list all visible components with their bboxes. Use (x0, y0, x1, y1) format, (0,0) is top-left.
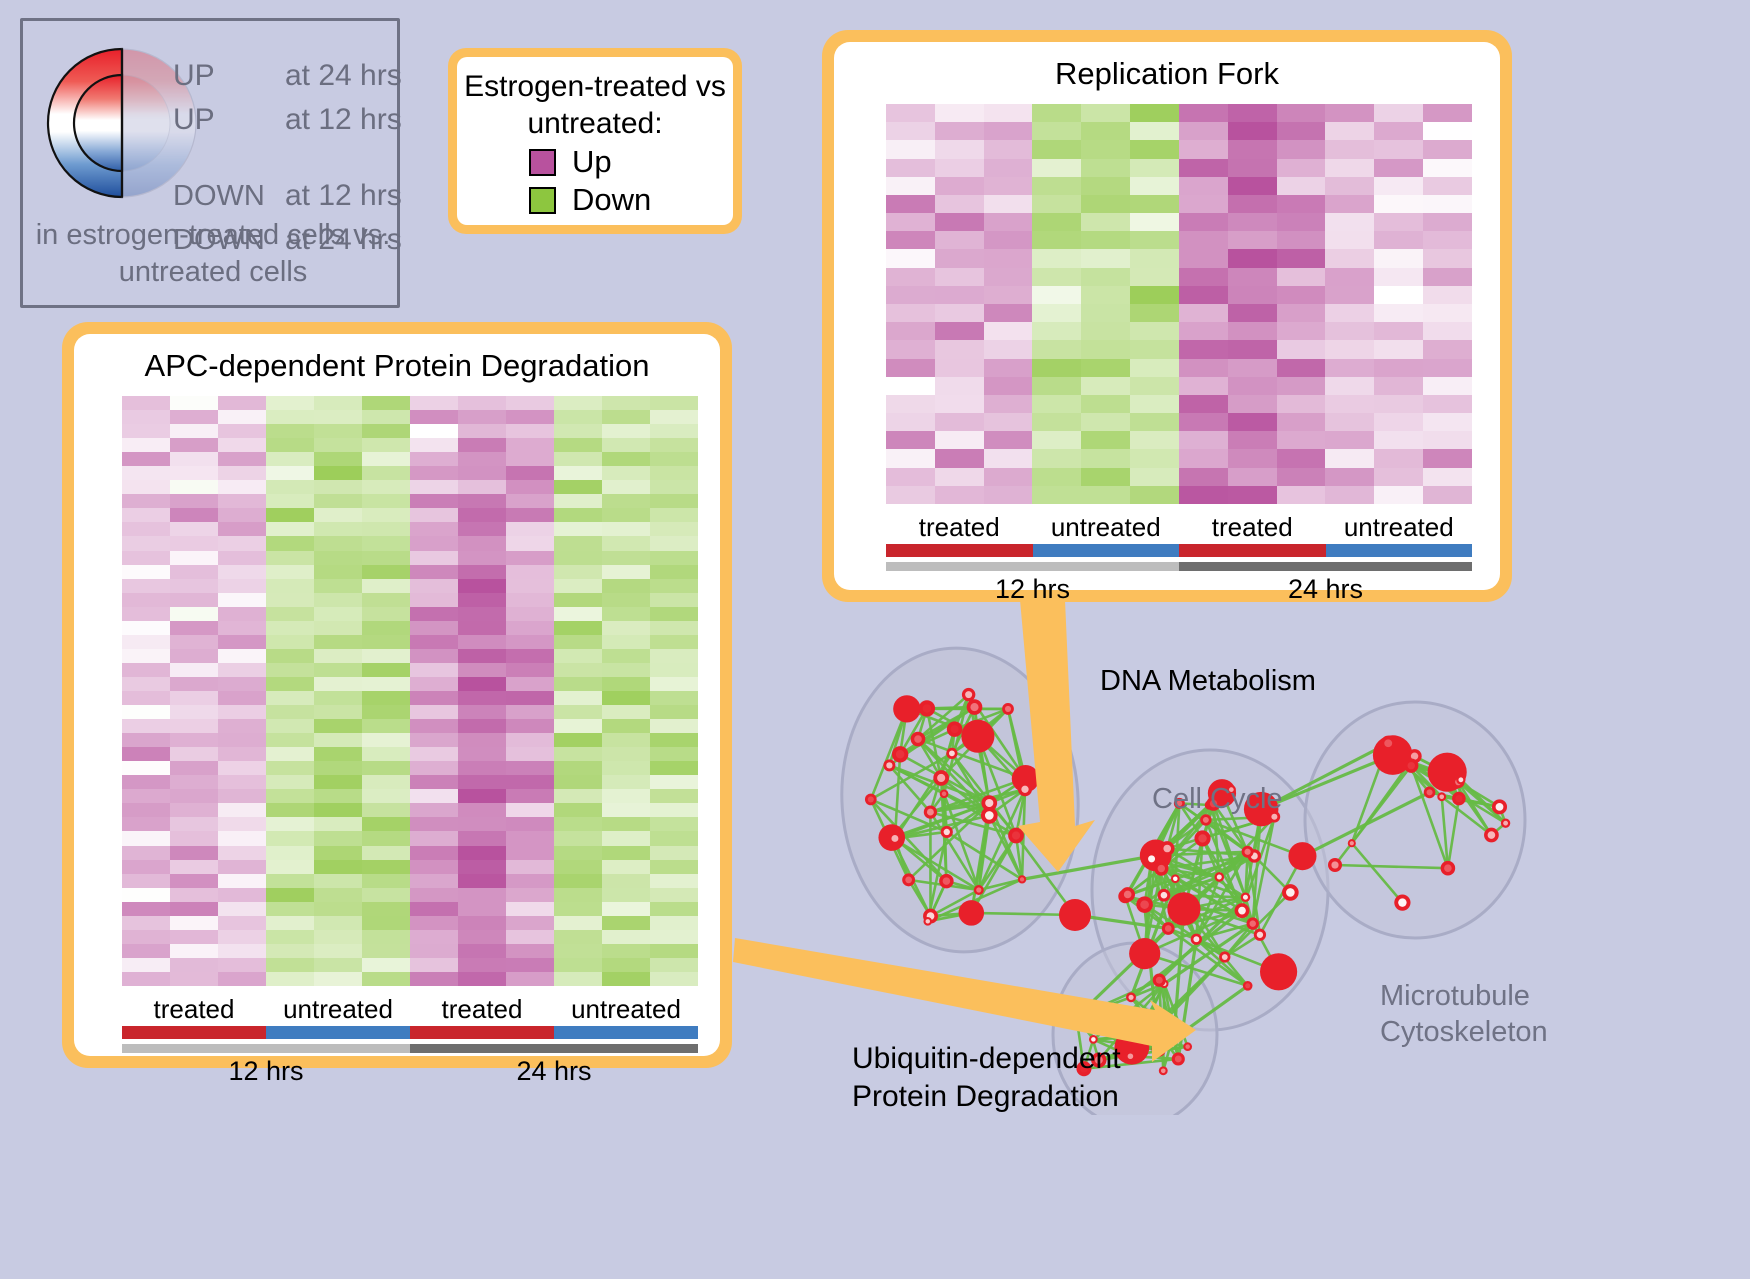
network-node[interactable] (1018, 782, 1032, 796)
heatmap-cell (984, 177, 1033, 195)
treatment-bar-apc (122, 1026, 698, 1039)
network-node[interactable] (1241, 892, 1251, 902)
network-node[interactable] (1162, 922, 1175, 935)
network-node-core (1427, 789, 1433, 795)
network-node[interactable] (902, 873, 915, 886)
heatmap-cell (650, 930, 698, 944)
heatmap-cell (554, 396, 602, 410)
heatmap-cell (1423, 268, 1472, 286)
heatmap-cell (122, 663, 170, 677)
network-node-core (1173, 876, 1178, 881)
heatmap-cell (602, 860, 650, 874)
heatmap-cell (554, 438, 602, 452)
heatmap-cell (1325, 449, 1374, 467)
heatmap-cell (266, 494, 314, 508)
network-node[interactable] (1002, 703, 1014, 715)
network-node-core (1021, 786, 1028, 793)
heatmap-cell (554, 705, 602, 719)
heatmap-cell (650, 902, 698, 916)
heatmap-cell (410, 593, 458, 607)
heatmap-cell (362, 396, 410, 410)
network-node-core (926, 919, 930, 923)
network-node-core (1020, 877, 1024, 881)
heatmap-cell (650, 958, 698, 972)
cluster-label-line1: Microtubule (1380, 978, 1548, 1014)
heatmap-cell (506, 438, 554, 452)
heatmap-cell (554, 888, 602, 902)
heatmap-cell (458, 649, 506, 663)
network-node[interactable] (1183, 1042, 1192, 1051)
heatmap-cell (410, 789, 458, 803)
network-node[interactable] (1008, 828, 1024, 844)
heatmap-cell (218, 438, 266, 452)
network-node[interactable] (1120, 887, 1135, 902)
heatmap-cell (602, 747, 650, 761)
network-node-core (1496, 803, 1504, 811)
heatmap-cell (1277, 359, 1326, 377)
heatmap-cell (650, 522, 698, 536)
heatmap-cell (1130, 159, 1179, 177)
heatmap-cell (1423, 304, 1472, 322)
network-node[interactable] (939, 874, 953, 888)
network-node[interactable] (1126, 992, 1136, 1002)
heatmap-cell (314, 691, 362, 705)
heatmap-cell (410, 579, 458, 593)
heatmap-cell (506, 663, 554, 677)
heatmap-cell (314, 551, 362, 565)
heatmap-cell (602, 972, 650, 986)
heatmap-cell (362, 817, 410, 831)
heatmap-cell (984, 122, 1033, 140)
network-node[interactable] (1260, 953, 1297, 990)
network-node[interactable] (1172, 1052, 1185, 1065)
network-node[interactable] (961, 720, 994, 753)
heatmap-cell (602, 944, 650, 958)
heatmap-cell (266, 860, 314, 874)
network-node[interactable] (1348, 839, 1356, 847)
heatmap-cell (886, 377, 935, 395)
heatmap-cell (935, 104, 984, 122)
heatmap-cell (458, 846, 506, 860)
heatmap-cell (122, 565, 170, 579)
heatmap-cell (984, 286, 1033, 304)
time-label: 24 hrs (1179, 574, 1472, 605)
network-node[interactable] (1437, 792, 1446, 801)
heatmap-cell (935, 486, 984, 504)
network-node[interactable] (1282, 884, 1299, 901)
heatmap-cell (362, 579, 410, 593)
heatmap-cell (554, 635, 602, 649)
legend-value: at 12 hrs (285, 179, 402, 213)
heatmap-cell (410, 677, 458, 691)
heatmap-cell (314, 831, 362, 845)
heatmap-cell (410, 733, 458, 747)
heatmap-cell (122, 635, 170, 649)
network-node[interactable] (1214, 872, 1224, 882)
network-node-core (1238, 907, 1246, 915)
updown-legend-title: Estrogen-treated vs untreated: (457, 69, 733, 142)
heatmap-cell (410, 831, 458, 845)
heatmap-cell (554, 508, 602, 522)
heatmap-cell (1423, 395, 1472, 413)
network-node-core (1198, 834, 1206, 842)
legend-key: UP (173, 103, 285, 137)
heatmap-cell (1423, 377, 1472, 395)
network-node[interactable] (924, 805, 937, 818)
heatmap-cell (1228, 195, 1277, 213)
bar-segment (1326, 544, 1473, 557)
network-node[interactable] (865, 794, 877, 806)
network-node[interactable] (1404, 759, 1418, 773)
heatmap-cell (1130, 377, 1179, 395)
network-node-core (1398, 898, 1406, 906)
heatmap-cell (1081, 159, 1130, 177)
heatmap-cell (410, 410, 458, 424)
heatmap-cell (266, 424, 314, 438)
network-node[interactable] (1381, 736, 1396, 751)
heatmap-cell (650, 761, 698, 775)
heatmap-cell (886, 286, 935, 304)
heatmap-cell (170, 775, 218, 789)
heatmap-cell (314, 803, 362, 817)
network-node[interactable] (981, 807, 998, 824)
heatmap-cell (1179, 322, 1228, 340)
network-node[interactable] (1154, 861, 1168, 875)
network-node[interactable] (1492, 799, 1507, 814)
heatmap-cell (602, 424, 650, 438)
heatmap-cell (1423, 195, 1472, 213)
heatmap-cell (886, 104, 935, 122)
network-node[interactable] (1452, 792, 1466, 806)
heatmap-cell (218, 536, 266, 550)
heatmap-cell (314, 958, 362, 972)
heatmap-cell (935, 304, 984, 322)
network-node[interactable] (947, 721, 963, 737)
colorwheel-legend-box: UP at 24 hrs UP at 12 hrs DOWN at 12 hrs… (20, 18, 400, 308)
network-node[interactable] (1152, 1042, 1166, 1056)
heatmap-cell (506, 635, 554, 649)
heatmap-cell (314, 747, 362, 761)
heatmap-cell (122, 677, 170, 691)
heatmap-cell (935, 286, 984, 304)
network-node[interactable] (1018, 875, 1026, 883)
heatmap-cell (170, 607, 218, 621)
heatmap-cell (1130, 122, 1179, 140)
heatmap-cell (362, 508, 410, 522)
heatmap-cell (458, 593, 506, 607)
network-node[interactable] (1235, 903, 1250, 918)
bar-segment (266, 1026, 410, 1039)
network-node-core (1193, 936, 1199, 942)
heatmap-cell (1179, 231, 1228, 249)
network-node[interactable] (892, 746, 908, 762)
heatmap-cell (362, 860, 410, 874)
heatmap-cell (1081, 486, 1130, 504)
heatmap-cell (554, 846, 602, 860)
network-node-core (927, 809, 934, 816)
heatmap-cell (650, 635, 698, 649)
heatmap-cell (1130, 304, 1179, 322)
heatmap-cell (1130, 340, 1179, 358)
heatmap-cell (506, 649, 554, 663)
heatmap-cell (410, 916, 458, 930)
network-node[interactable] (1243, 981, 1253, 991)
network-node[interactable] (1167, 892, 1200, 925)
heatmap-cell (314, 396, 362, 410)
heatmap-cell (122, 551, 170, 565)
network-node[interactable] (1247, 917, 1259, 929)
network-node-core (896, 750, 905, 759)
bar-segment (1179, 544, 1326, 557)
heatmap-cell (362, 565, 410, 579)
network-node[interactable] (1424, 787, 1436, 799)
heatmap-cell (170, 916, 218, 930)
heatmap-cell (1081, 104, 1130, 122)
heatmap-cell (1277, 268, 1326, 286)
heatmap-cell (650, 649, 698, 663)
heatmap-cell (266, 874, 314, 888)
heatmap-cell (554, 536, 602, 550)
heatmap-cell (1374, 377, 1423, 395)
heatmap-cell (410, 972, 458, 986)
heatmap-cell (362, 691, 410, 705)
network-node[interactable] (1194, 830, 1210, 846)
heatmap-cell (1032, 177, 1081, 195)
network-node[interactable] (1158, 889, 1171, 902)
heatmap-cell (935, 195, 984, 213)
network-node[interactable] (888, 832, 901, 845)
heatmap-cell (1277, 413, 1326, 431)
time-label: 12 hrs (886, 574, 1179, 605)
heatmap-cell (218, 494, 266, 508)
heatmap-cell (1277, 122, 1326, 140)
network-node[interactable] (1501, 818, 1510, 827)
network-node[interactable] (1070, 1011, 1083, 1024)
heatmap-cell (650, 607, 698, 621)
heatmap-cell (266, 817, 314, 831)
network-node[interactable] (959, 900, 985, 926)
heatmap-cell (266, 565, 314, 579)
heatmap-cell (218, 551, 266, 565)
network-node[interactable] (923, 917, 932, 926)
heatmap-cell (266, 846, 314, 860)
updown-legend-label: Down (572, 182, 651, 218)
heatmap-cell (506, 410, 554, 424)
network-node[interactable] (1125, 1051, 1136, 1062)
heatmap-cell (266, 536, 314, 550)
time-labels-replication-fork: 12 hrs 24 hrs (886, 574, 1472, 605)
heatmap-cell (1081, 268, 1130, 286)
heatmap-cell (170, 579, 218, 593)
heatmap-cell (314, 860, 362, 874)
heatmap-cell (314, 944, 362, 958)
network-node[interactable] (1129, 938, 1160, 969)
network-node[interactable] (1059, 899, 1091, 931)
heatmap-cell (650, 747, 698, 761)
heatmap-cell (1179, 286, 1228, 304)
heatmap-cell (554, 593, 602, 607)
heatmap-cell (935, 449, 984, 467)
heatmap-cell (458, 663, 506, 677)
network-node[interactable] (1254, 929, 1266, 941)
time-bar-replication-fork (886, 562, 1472, 571)
heatmap-cell (1374, 140, 1423, 158)
heatmap-cell (554, 916, 602, 930)
network-node[interactable] (1136, 896, 1153, 913)
heatmap-cell (218, 789, 266, 803)
heatmap-cell (935, 268, 984, 286)
network-node[interactable] (1441, 861, 1456, 876)
heatmap-cell (886, 177, 935, 195)
network-node[interactable] (933, 770, 949, 786)
network-node[interactable] (1160, 841, 1175, 856)
heatmap-cell (984, 159, 1033, 177)
heatmap-cell (122, 607, 170, 621)
heatmap-cell (266, 410, 314, 424)
heatmap-cell (1032, 231, 1081, 249)
panel-inner: APC-dependent Protein Degradation treate… (74, 334, 720, 1056)
heatmap-cell (602, 958, 650, 972)
heatmap-cell (886, 340, 935, 358)
network-node[interactable] (1219, 951, 1230, 962)
heatmap-cell (602, 551, 650, 565)
heatmap-cell (602, 621, 650, 635)
heatmap-cell (458, 438, 506, 452)
network-node[interactable] (919, 700, 935, 716)
network-node[interactable] (893, 695, 920, 722)
heatmap-cell (266, 452, 314, 466)
heatmap-cell (650, 565, 698, 579)
network-node-core (951, 725, 959, 733)
heatmap-cell (984, 249, 1033, 267)
heatmap-cell (1081, 231, 1130, 249)
heatmap-cell (602, 817, 650, 831)
heatmap-cell (170, 565, 218, 579)
heatmap-cell (1179, 177, 1228, 195)
updown-legend-panel: Estrogen-treated vs untreated: Up Down (448, 48, 742, 234)
network-node[interactable] (1084, 1022, 1093, 1031)
heatmap-cell (1374, 322, 1423, 340)
heatmap-cell (218, 902, 266, 916)
network-node[interactable] (1328, 858, 1342, 872)
heatmap-cell (984, 377, 1033, 395)
heatmap-cell (170, 902, 218, 916)
heatmap-cell (122, 803, 170, 817)
heatmap-cell (218, 817, 266, 831)
heatmap-cell (506, 705, 554, 719)
heatmap-cell (554, 663, 602, 677)
network-node[interactable] (1171, 874, 1180, 883)
heatmap-cell (506, 902, 554, 916)
heatmap-cell (410, 803, 458, 817)
heatmap-cell (506, 958, 554, 972)
network-node-core (1158, 865, 1165, 872)
network-node[interactable] (941, 826, 953, 838)
heatmap-cell (602, 536, 650, 550)
network-node[interactable] (940, 789, 949, 798)
heatmap-cell (170, 817, 218, 831)
network-node-core (1384, 739, 1392, 747)
heatmap-cell (602, 480, 650, 494)
heatmap-cell (1032, 122, 1081, 140)
network-node-core (891, 835, 898, 842)
network-node[interactable] (967, 699, 983, 715)
heatmap-cell (1179, 413, 1228, 431)
heatmap-cell (886, 268, 935, 286)
heatmap-cell (458, 930, 506, 944)
network-node[interactable] (1394, 895, 1410, 911)
heatmap-cell (410, 902, 458, 916)
heatmap-cell (1325, 359, 1374, 377)
figure-canvas: UP at 24 hrs UP at 12 hrs DOWN at 12 hrs… (0, 0, 1750, 1279)
heatmap-cell (266, 649, 314, 663)
heatmap-cell (554, 649, 602, 663)
heatmap-cell (602, 663, 650, 677)
network-node[interactable] (1484, 828, 1499, 843)
cluster-label-microtubule-cytoskeleton: Microtubule Cytoskeleton (1380, 978, 1548, 1051)
network-node[interactable] (974, 885, 984, 895)
heatmap-cell (554, 565, 602, 579)
heatmap-cell (650, 677, 698, 691)
network-node[interactable] (1242, 846, 1254, 858)
heatmap-cell (122, 860, 170, 874)
heatmap-cell (218, 452, 266, 466)
network-node[interactable] (946, 748, 957, 759)
heatmap-cell (650, 733, 698, 747)
heatmap-cell (506, 551, 554, 565)
heatmap-cell (362, 677, 410, 691)
network-node-core (1203, 817, 1209, 823)
heatmap-cell (1374, 395, 1423, 413)
network-node[interactable] (883, 759, 895, 771)
heatmap-cell (1032, 449, 1081, 467)
heatmap-cell (218, 635, 266, 649)
heatmap-cell (506, 916, 554, 930)
group-label: treated (1179, 512, 1326, 543)
heatmap-cell (410, 522, 458, 536)
heatmap-cell (362, 536, 410, 550)
heatmap-cell (1374, 268, 1423, 286)
network-node[interactable] (1159, 1066, 1168, 1075)
network-node[interactable] (1191, 934, 1202, 945)
heatmap-cell (314, 621, 362, 635)
heatmap-cell (266, 958, 314, 972)
heatmap-cell (1032, 413, 1081, 431)
heatmap-cell (984, 340, 1033, 358)
heatmap-cell (362, 480, 410, 494)
heatmap-cell (554, 551, 602, 565)
network-node[interactable] (1456, 775, 1465, 784)
heatmap-cell (314, 438, 362, 452)
heatmap-cell (1228, 468, 1277, 486)
network-node[interactable] (1166, 1027, 1182, 1043)
heatmap-cell (1228, 377, 1277, 395)
heatmap-replication-fork (886, 104, 1472, 504)
heatmap-cell (506, 831, 554, 845)
heatmap-cell (170, 508, 218, 522)
network-node[interactable] (1153, 974, 1166, 987)
network-node-core (1012, 831, 1020, 839)
heatmap-cell (122, 846, 170, 860)
network-node[interactable] (1288, 842, 1316, 870)
network-node[interactable] (911, 732, 926, 747)
heatmap-cell (410, 888, 458, 902)
heatmap-cell (218, 621, 266, 635)
heatmap-cell (362, 522, 410, 536)
network-node[interactable] (962, 688, 975, 701)
heatmap-cell (218, 930, 266, 944)
heatmap-cell (1228, 449, 1277, 467)
